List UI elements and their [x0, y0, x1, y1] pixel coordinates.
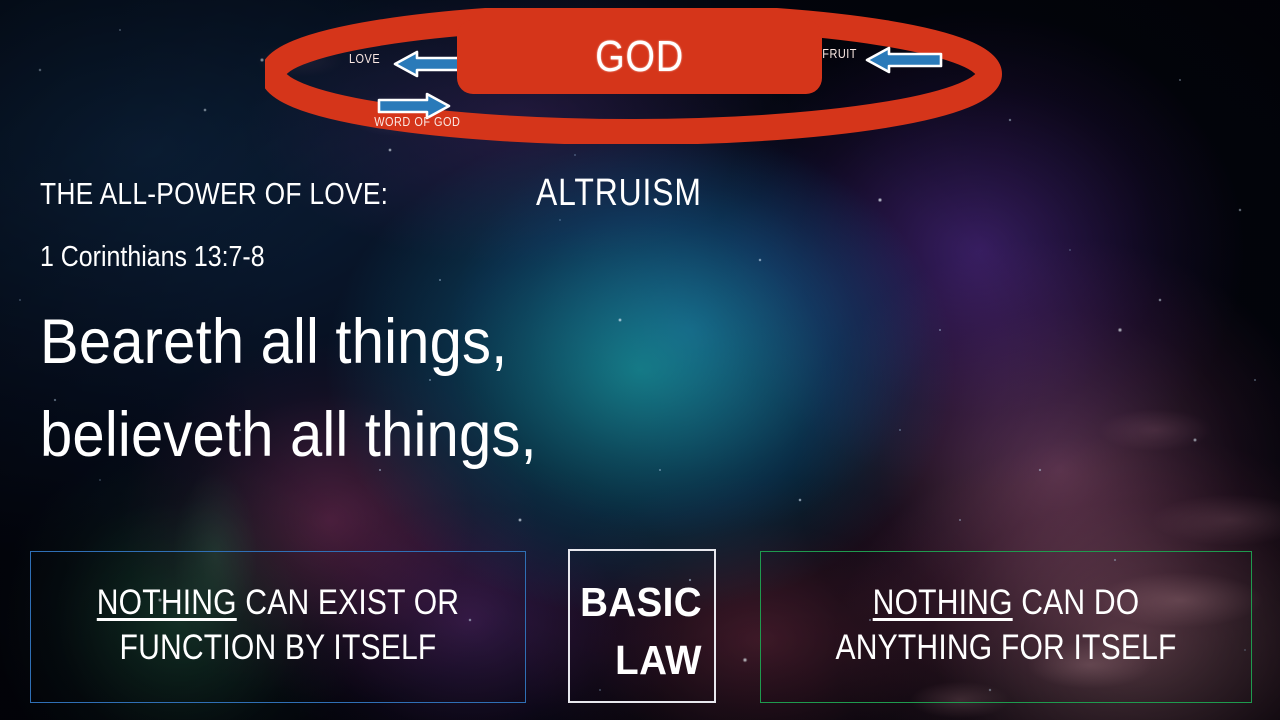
- basic-law-label: BASIC LAW: [574, 573, 702, 689]
- slide-canvas: GOD LOVE FRUIT WORD OF GOD THE ALL-POWER…: [0, 0, 1280, 720]
- bottom-box-right: NOTHING CAN DO ANYTHING FOR ITSELF: [760, 551, 1252, 703]
- bottom-box-left-text: NOTHING CAN EXIST OR FUNCTION BY ITSELF: [66, 581, 491, 671]
- bottom-box-right-line1: NOTHING CAN DO: [795, 581, 1216, 626]
- cycle-label-word-of-god: WORD OF GOD: [374, 114, 460, 129]
- bottom-box-right-rest: CAN DO: [1013, 583, 1140, 622]
- bottom-box-right-text: NOTHING CAN DO ANYTHING FOR ITSELF: [795, 581, 1216, 671]
- bottom-box-left-line2: FUNCTION BY ITSELF: [66, 626, 491, 671]
- bottom-box-right-line2: ANYTHING FOR ITSELF: [795, 626, 1216, 671]
- bottom-box-left: NOTHING CAN EXIST OR FUNCTION BY ITSELF: [30, 551, 526, 703]
- verse-text: Beareth all things, believeth all things…: [40, 296, 739, 482]
- bottom-box-left-line1: NOTHING CAN EXIST OR: [66, 581, 491, 626]
- cycle-label-love: LOVE: [349, 51, 380, 66]
- bottom-box-middle: BASIC LAW: [568, 549, 716, 703]
- bottom-box-left-emphasis: NOTHING: [97, 583, 237, 622]
- bottom-box-right-emphasis: NOTHING: [873, 583, 1013, 622]
- keyword-heading: ALTRUISM: [536, 172, 702, 215]
- cycle-label-fruit: FRUIT: [822, 46, 857, 61]
- god-box: GOD: [457, 20, 822, 94]
- god-label: GOD: [595, 32, 684, 82]
- scripture-reference: 1 Corinthians 13:7-8: [40, 241, 265, 274]
- arrow-left-icon-love: [395, 52, 465, 76]
- bottom-box-left-rest: CAN EXIST OR: [237, 583, 459, 622]
- topic-heading: THE ALL-POWER OF LOVE:: [40, 176, 388, 212]
